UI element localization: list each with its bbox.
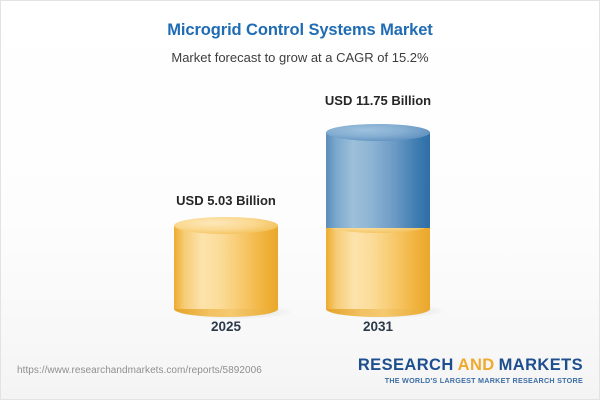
logo-word-and: AND xyxy=(458,356,495,374)
bar-cylinder-2025[interactable] xyxy=(174,217,278,317)
bar-body-base-2031 xyxy=(326,224,430,309)
bar-segment-base-2031 xyxy=(326,224,430,309)
bar-cylinder-2031[interactable] xyxy=(326,116,430,317)
chart-plot-area: USD 5.03 Billion 2025 USD 11.75 Billion xyxy=(1,1,600,400)
bar-segment-growth-2031 xyxy=(326,132,430,228)
market-infographic: Microgrid Control Systems Market Market … xyxy=(0,0,600,400)
category-label-2025: 2025 xyxy=(146,319,306,334)
brand-logo[interactable]: RESEARCHANDMARKETS THE WORLD'S LARGEST M… xyxy=(358,357,583,385)
bar-body-growth-2031 xyxy=(326,132,430,228)
value-label-2031: USD 11.75 Billion xyxy=(263,93,493,108)
bar-cap-growth-2031 xyxy=(326,124,430,141)
bar-body-2025 xyxy=(174,225,278,309)
bar-segment-base-2025 xyxy=(174,225,278,309)
logo-word-markets: MARKETS xyxy=(499,356,583,374)
logo-tagline: THE WORLD'S LARGEST MARKET RESEARCH STOR… xyxy=(358,376,583,385)
report-url[interactable]: https://www.researchandmarkets.com/repor… xyxy=(17,365,262,376)
category-label-2031: 2031 xyxy=(298,319,458,334)
bar-cap-2025 xyxy=(174,217,278,234)
logo-wordmark: RESEARCHANDMARKETS xyxy=(358,357,583,374)
value-label-2025: USD 5.03 Billion xyxy=(111,193,341,208)
footer: https://www.researchandmarkets.com/repor… xyxy=(1,351,599,399)
logo-word-research: RESEARCH xyxy=(358,356,454,374)
